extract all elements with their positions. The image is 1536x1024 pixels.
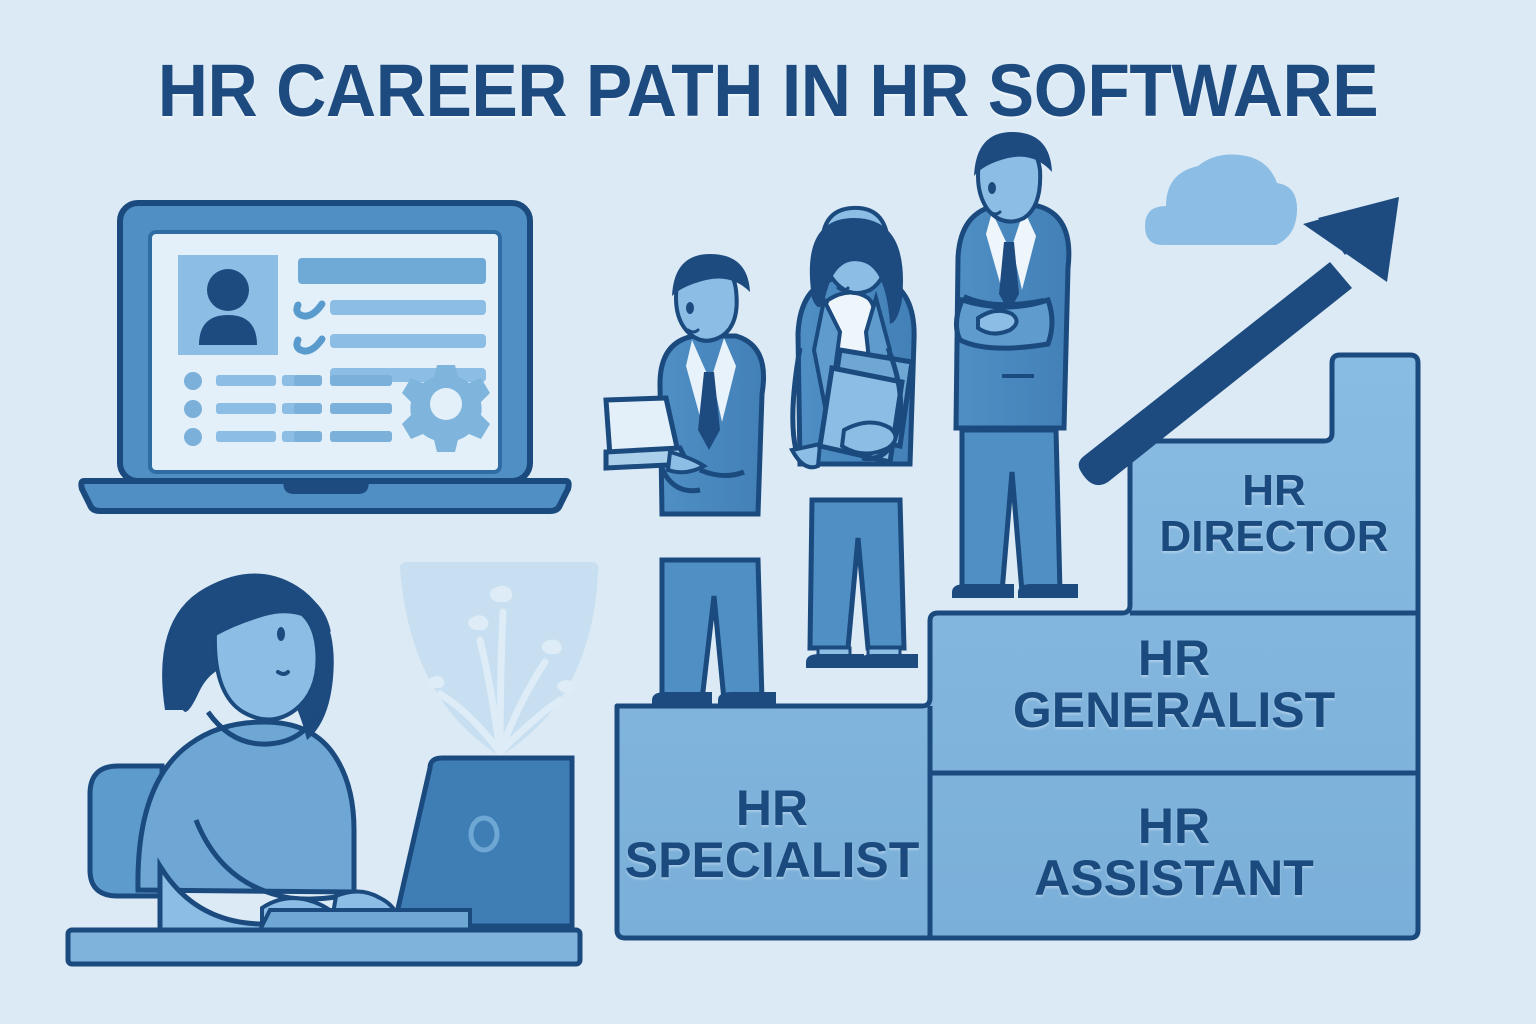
cloud-icon xyxy=(1145,154,1297,245)
page-title: HR CAREER PATH IN HR SOFTWARE xyxy=(46,48,1490,133)
hr-software-laptop xyxy=(81,203,568,511)
step-label-hr-director: HR DIRECTOR xyxy=(1130,468,1418,560)
illustration-canvas: HR CAREER PATH IN HR SOFTWARE HR SPECIAL… xyxy=(0,0,1536,1024)
screen-text-bar xyxy=(330,334,486,348)
potted-plant-silhouette xyxy=(400,562,598,756)
step-label-hr-assistant: HR ASSISTANT xyxy=(930,800,1418,904)
screen-text-bar xyxy=(330,300,486,315)
hr-specialist-figure xyxy=(606,254,776,706)
desk-laptop-lid xyxy=(394,758,572,926)
desk-laptop-keyboard xyxy=(260,910,470,930)
hr-director-figure xyxy=(952,132,1078,598)
step-label-hr-generalist: HR GENERALIST xyxy=(930,632,1418,736)
hr-generalist-figure xyxy=(792,208,918,668)
step-label-hr-specialist: HR SPECIALIST xyxy=(617,782,927,886)
bullet-dot xyxy=(184,400,202,418)
bullet-dot xyxy=(184,372,202,390)
screen-header-bar xyxy=(298,258,486,284)
bullet-dot xyxy=(184,428,202,446)
desk xyxy=(68,930,580,964)
